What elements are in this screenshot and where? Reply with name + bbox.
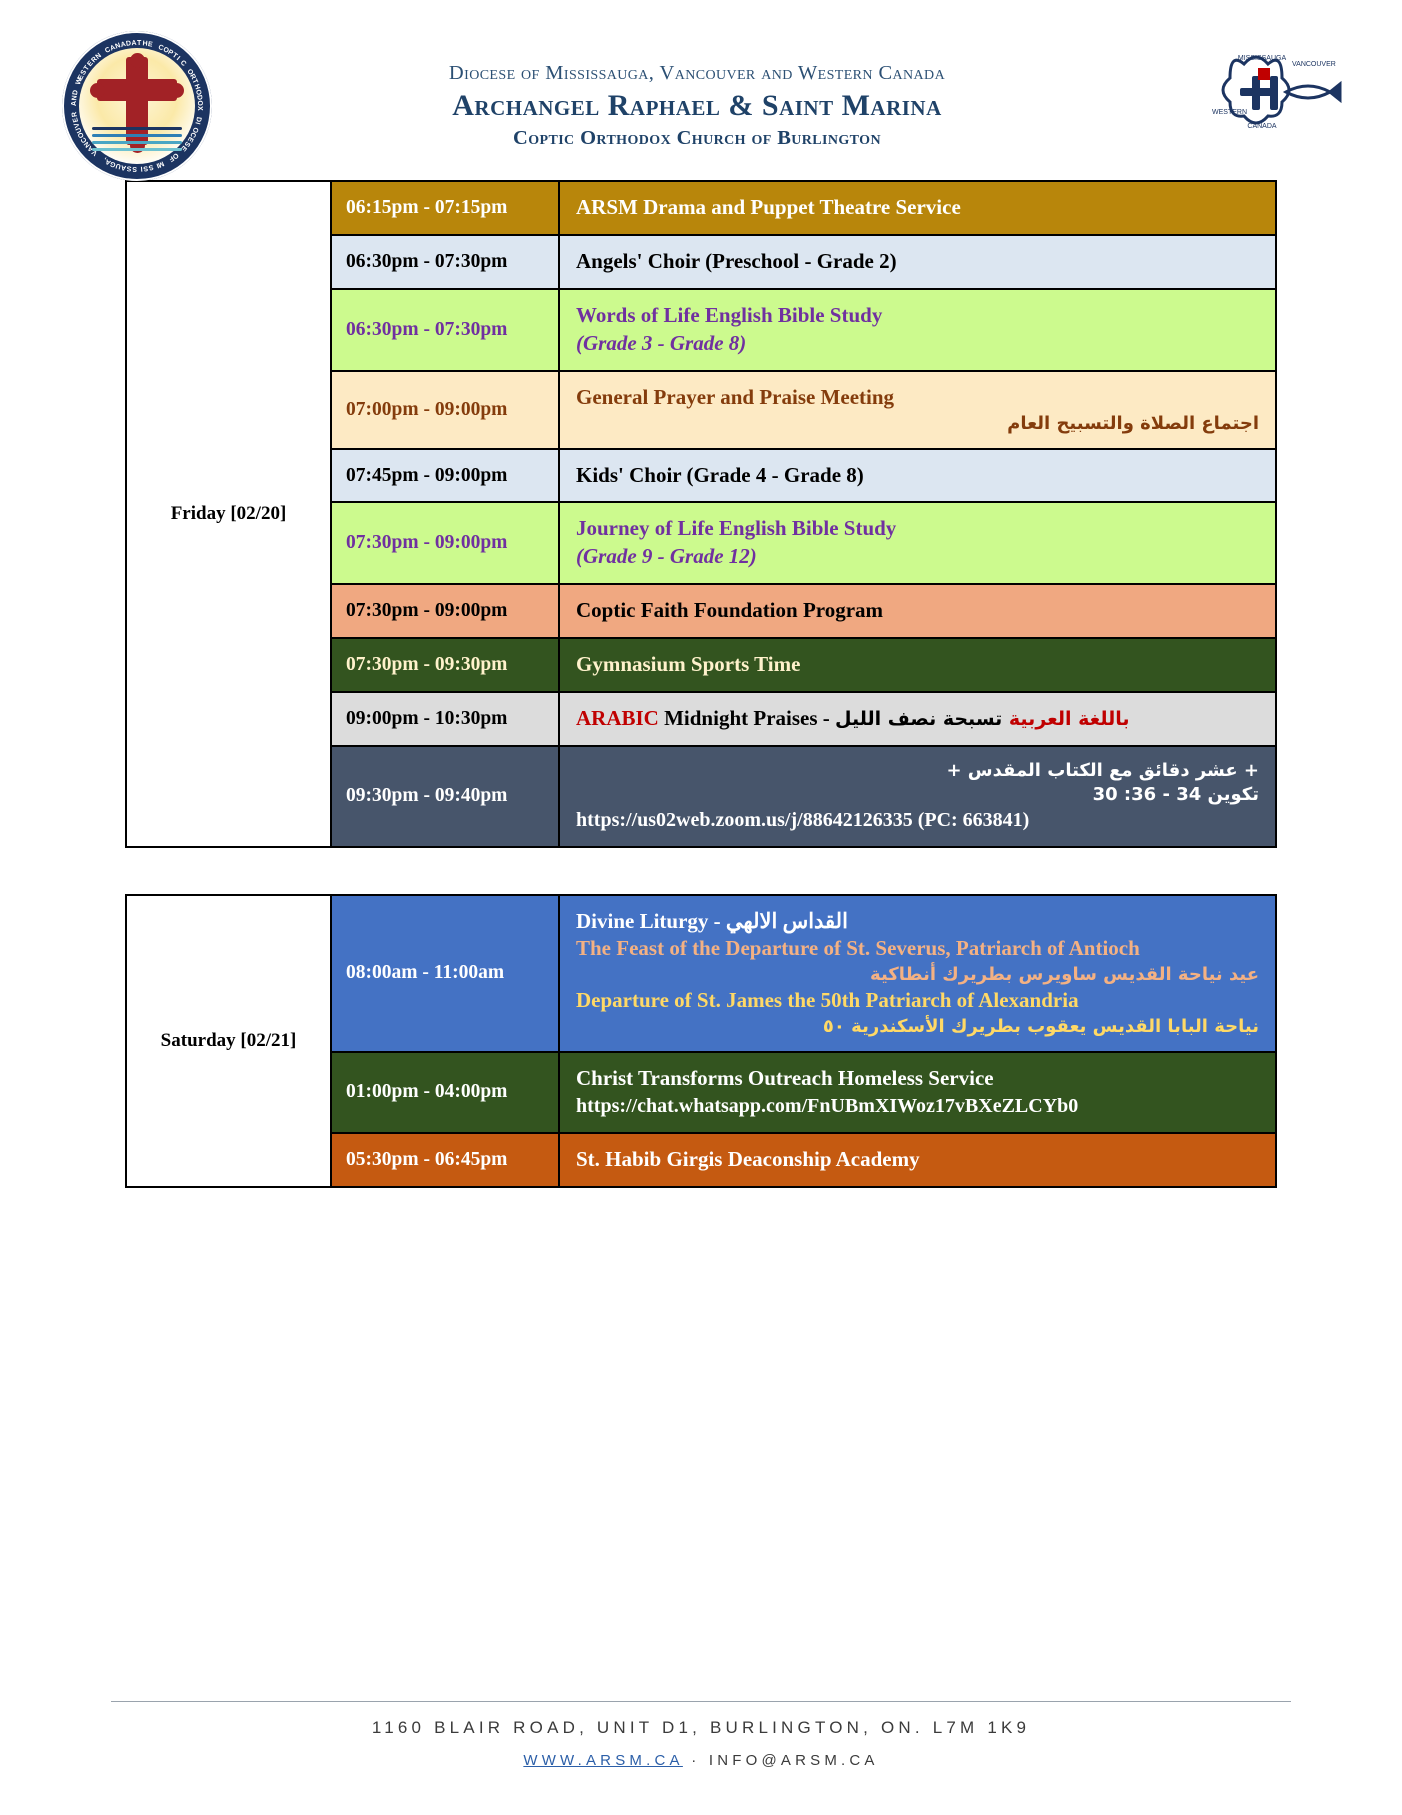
- event-time: 07:30pm - 09:00pm: [331, 584, 559, 638]
- event-line: + عشر دقائق مع الكتاب المقدس +: [576, 759, 1259, 783]
- schedule-container: Friday [02/20]06:15pm - 07:15pmARSM Dram…: [0, 180, 1402, 1188]
- day-label: Saturday [02/21]: [126, 895, 331, 1187]
- event-text-segment: ARABIC: [576, 706, 659, 730]
- coptic-cross-arm: [97, 79, 177, 101]
- event-line: (Grade 9 - Grade 12): [576, 543, 1259, 571]
- event-text-segment: تسبحة نصف الليل: [835, 708, 1009, 730]
- event-line: St. Habib Girgis Deaconship Academy: [576, 1146, 1259, 1174]
- day-label: Friday [02/20]: [126, 181, 331, 847]
- event-line: نياحة البابا القديس يعقوب بطريرك الأسكند…: [576, 1015, 1259, 1039]
- event-description: ARSM Drama and Puppet Theatre Service: [559, 181, 1276, 235]
- email-text: INFO@ARSM.CA: [709, 1752, 879, 1769]
- event-description: St. Habib Girgis Deaconship Academy: [559, 1133, 1276, 1187]
- event-line: Journey of Life English Bible Study: [576, 515, 1259, 543]
- event-text-segment: Midnight Praises -: [659, 706, 835, 730]
- event-description: General Prayer and Praise Meetingاجتماع …: [559, 371, 1276, 449]
- table-row: Saturday [02/21]08:00am - 11:00amDivine …: [126, 895, 1276, 1053]
- footer-address: 1160 BLAIR ROAD, UNIT D1, BURLINGTON, ON…: [0, 1718, 1402, 1738]
- schedule-table-friday: Friday [02/20]06:15pm - 07:15pmARSM Dram…: [125, 180, 1277, 848]
- diocese-line: Diocese of Mississauga, Vancouver and We…: [222, 62, 1172, 85]
- diocese-emblem-svg: MISSISSAUGA CANADA WESTERN VANCOUVER: [1182, 46, 1342, 166]
- water-waves-icon: [92, 127, 182, 153]
- event-time: 01:00pm - 04:00pm: [331, 1052, 559, 1133]
- website-link[interactable]: WWW.ARSM.CA: [523, 1752, 683, 1769]
- event-line: Kids' Choir (Grade 4 - Grade 8): [576, 462, 1259, 490]
- event-text-segment: باللغة العربية: [1009, 708, 1130, 730]
- event-time: 06:15pm - 07:15pm: [331, 181, 559, 235]
- event-line: Gymnasium Sports Time: [576, 651, 1259, 679]
- event-time: 07:00pm - 09:00pm: [331, 371, 559, 449]
- event-line: (Grade 3 - Grade 8): [576, 330, 1259, 358]
- event-time: 09:30pm - 09:40pm: [331, 746, 559, 846]
- event-line: ARABIC Midnight Praises - باللغة العربية…: [576, 705, 1259, 733]
- diocese-emblem-logo: MISSISSAUGA CANADA WESTERN VANCOUVER: [1182, 46, 1342, 166]
- event-description: Coptic Faith Foundation Program: [559, 584, 1276, 638]
- event-line: Angels' Choir (Preschool - Grade 2): [576, 248, 1259, 276]
- event-time: 08:00am - 11:00am: [331, 895, 559, 1053]
- header-titles: Diocese of Mississauga, Vancouver and We…: [212, 62, 1182, 150]
- block-spacer: [0, 848, 1402, 894]
- page-header: THE COPTIC ORTHODOX DIOCESE OF MISSISSAU…: [0, 0, 1402, 180]
- event-description: Angels' Choir (Preschool - Grade 2): [559, 235, 1276, 289]
- schedule-table-saturday: Saturday [02/21]08:00am - 11:00amDivine …: [125, 894, 1277, 1188]
- table-row: Friday [02/20]06:15pm - 07:15pmARSM Dram…: [126, 181, 1276, 235]
- event-line: اجتماع الصلاة والتسبيح العام: [576, 412, 1259, 436]
- event-line: Christ Transforms Outreach Homeless Serv…: [576, 1065, 1259, 1093]
- event-line: Words of Life English Bible Study: [576, 302, 1259, 330]
- event-link[interactable]: https://us02web.zoom.us/j/88642126335 (P…: [576, 807, 1259, 834]
- cross-dot-right: [169, 83, 184, 98]
- event-description: Journey of Life English Bible Study(Grad…: [559, 502, 1276, 584]
- event-line: General Prayer and Praise Meeting: [576, 384, 1259, 412]
- event-time: 07:45pm - 09:00pm: [331, 449, 559, 503]
- event-time: 06:30pm - 07:30pm: [331, 289, 559, 371]
- cross-dot-left: [90, 83, 105, 98]
- church-name: Archangel Raphael & Saint Marina: [222, 89, 1172, 123]
- event-line: Coptic Faith Foundation Program: [576, 597, 1259, 625]
- event-line: Divine Liturgy - القداس الالهي: [576, 908, 1259, 936]
- event-time: 07:30pm - 09:00pm: [331, 502, 559, 584]
- event-link[interactable]: https://chat.whatsapp.com/FnUBmXIWoz17vB…: [576, 1093, 1259, 1120]
- event-line: Departure of St. James the 50th Patriarc…: [576, 987, 1259, 1015]
- event-time: 09:00pm - 10:30pm: [331, 692, 559, 746]
- event-time: 05:30pm - 06:45pm: [331, 1133, 559, 1187]
- event-description: Divine Liturgy - القداس الالهيThe Feast …: [559, 895, 1276, 1053]
- svg-text:CANADA: CANADA: [1247, 123, 1277, 130]
- church-seal-logo: THE COPTIC ORTHODOX DIOCESE OF MISSISSAU…: [62, 31, 212, 181]
- event-line: The Feast of the Departure of St. Severu…: [576, 935, 1259, 963]
- event-description: Kids' Choir (Grade 4 - Grade 8): [559, 449, 1276, 503]
- event-time: 07:30pm - 09:30pm: [331, 638, 559, 692]
- cross-dot-top: [130, 53, 145, 68]
- page-footer: 1160 BLAIR ROAD, UNIT D1, BURLINGTON, ON…: [0, 1701, 1402, 1769]
- event-line: تكوين 34 - 36: 30: [576, 783, 1259, 807]
- event-description: Words of Life English Bible Study(Grade …: [559, 289, 1276, 371]
- event-description: ARABIC Midnight Praises - باللغة العربية…: [559, 692, 1276, 746]
- church-subtitle: Coptic Orthodox Church of Burlington: [222, 127, 1172, 150]
- footer-separator: ·: [691, 1752, 700, 1769]
- footer-divider: [111, 1701, 1291, 1702]
- svg-text:VANCOUVER: VANCOUVER: [1292, 61, 1336, 68]
- event-line: ARSM Drama and Puppet Theatre Service: [576, 194, 1259, 222]
- svg-text:MISSISSAUGA: MISSISSAUGA: [1238, 55, 1287, 62]
- event-time: 06:30pm - 07:30pm: [331, 235, 559, 289]
- footer-contact: WWW.ARSM.CA · INFO@ARSM.CA: [0, 1752, 1402, 1769]
- svg-text:WESTERN: WESTERN: [1212, 109, 1247, 116]
- event-description: Christ Transforms Outreach Homeless Serv…: [559, 1052, 1276, 1133]
- event-description: + عشر دقائق مع الكتاب المقدس +تكوين 34 -…: [559, 746, 1276, 846]
- event-line: عيد نياحة القديس ساويرس بطريرك أنطاكية: [576, 963, 1259, 987]
- event-description: Gymnasium Sports Time: [559, 638, 1276, 692]
